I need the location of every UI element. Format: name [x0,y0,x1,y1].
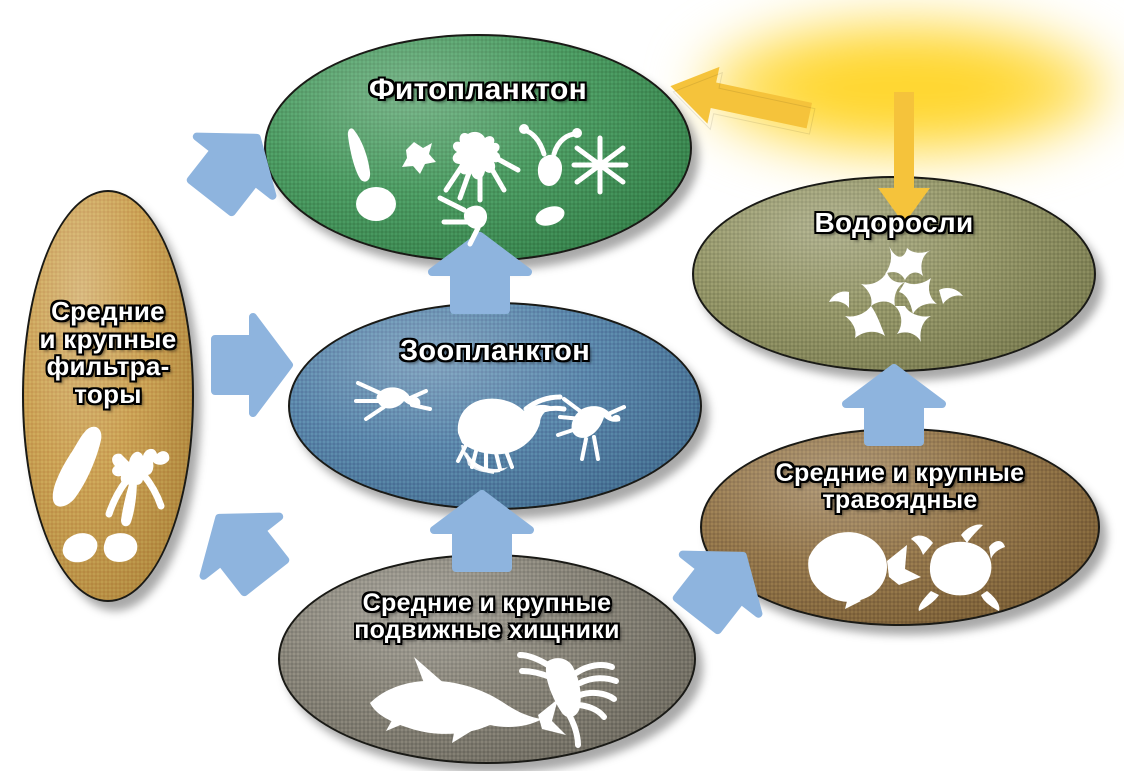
predator-silhouettes-icon [352,651,622,761]
phytoplankton-silhouettes-icon [328,112,628,232]
food-web-diagram: Схема пищевой сети водоёма Фитопланктон [0,0,1124,771]
arrow-filter-feeders-to-zooplankton [213,313,291,417]
filter-feeder-silhouettes-icon [33,422,183,568]
node-herbivores[interactable]: Средние и крупные травоядные [700,428,1100,626]
sunlight-glow [700,18,1112,158]
zooplankton-silhouettes-icon [350,375,640,485]
node-predators[interactable]: Средние и крупные подвижные хищники [278,554,696,764]
node-label-algae: Водоросли [815,208,974,238]
node-zooplankton[interactable]: Зоопланктон [288,302,702,510]
node-filter-feeders[interactable]: Средние и крупные фильтра- торы [22,190,194,602]
node-label-filter-feeders: Средние и крупные фильтра- торы [40,298,177,408]
diagram-title: Схема пищевой сети водоёма [0,21,1,22]
node-algae[interactable]: Водоросли [692,176,1096,372]
arrow-predators-to-filter-feeders [177,484,307,609]
node-phytoplankton[interactable]: Фитопланктон [264,34,692,262]
node-label-phytoplankton: Фитопланктон [369,74,587,106]
algae-silhouette-icon [819,242,969,342]
herbivore-silhouettes-icon [795,521,1005,611]
node-label-herbivores: Средние и крупные травоядные [776,460,1025,513]
node-label-zooplankton: Зоопланктон [400,336,590,367]
node-label-predators: Средние и крупные подвижные хищники [354,590,620,643]
